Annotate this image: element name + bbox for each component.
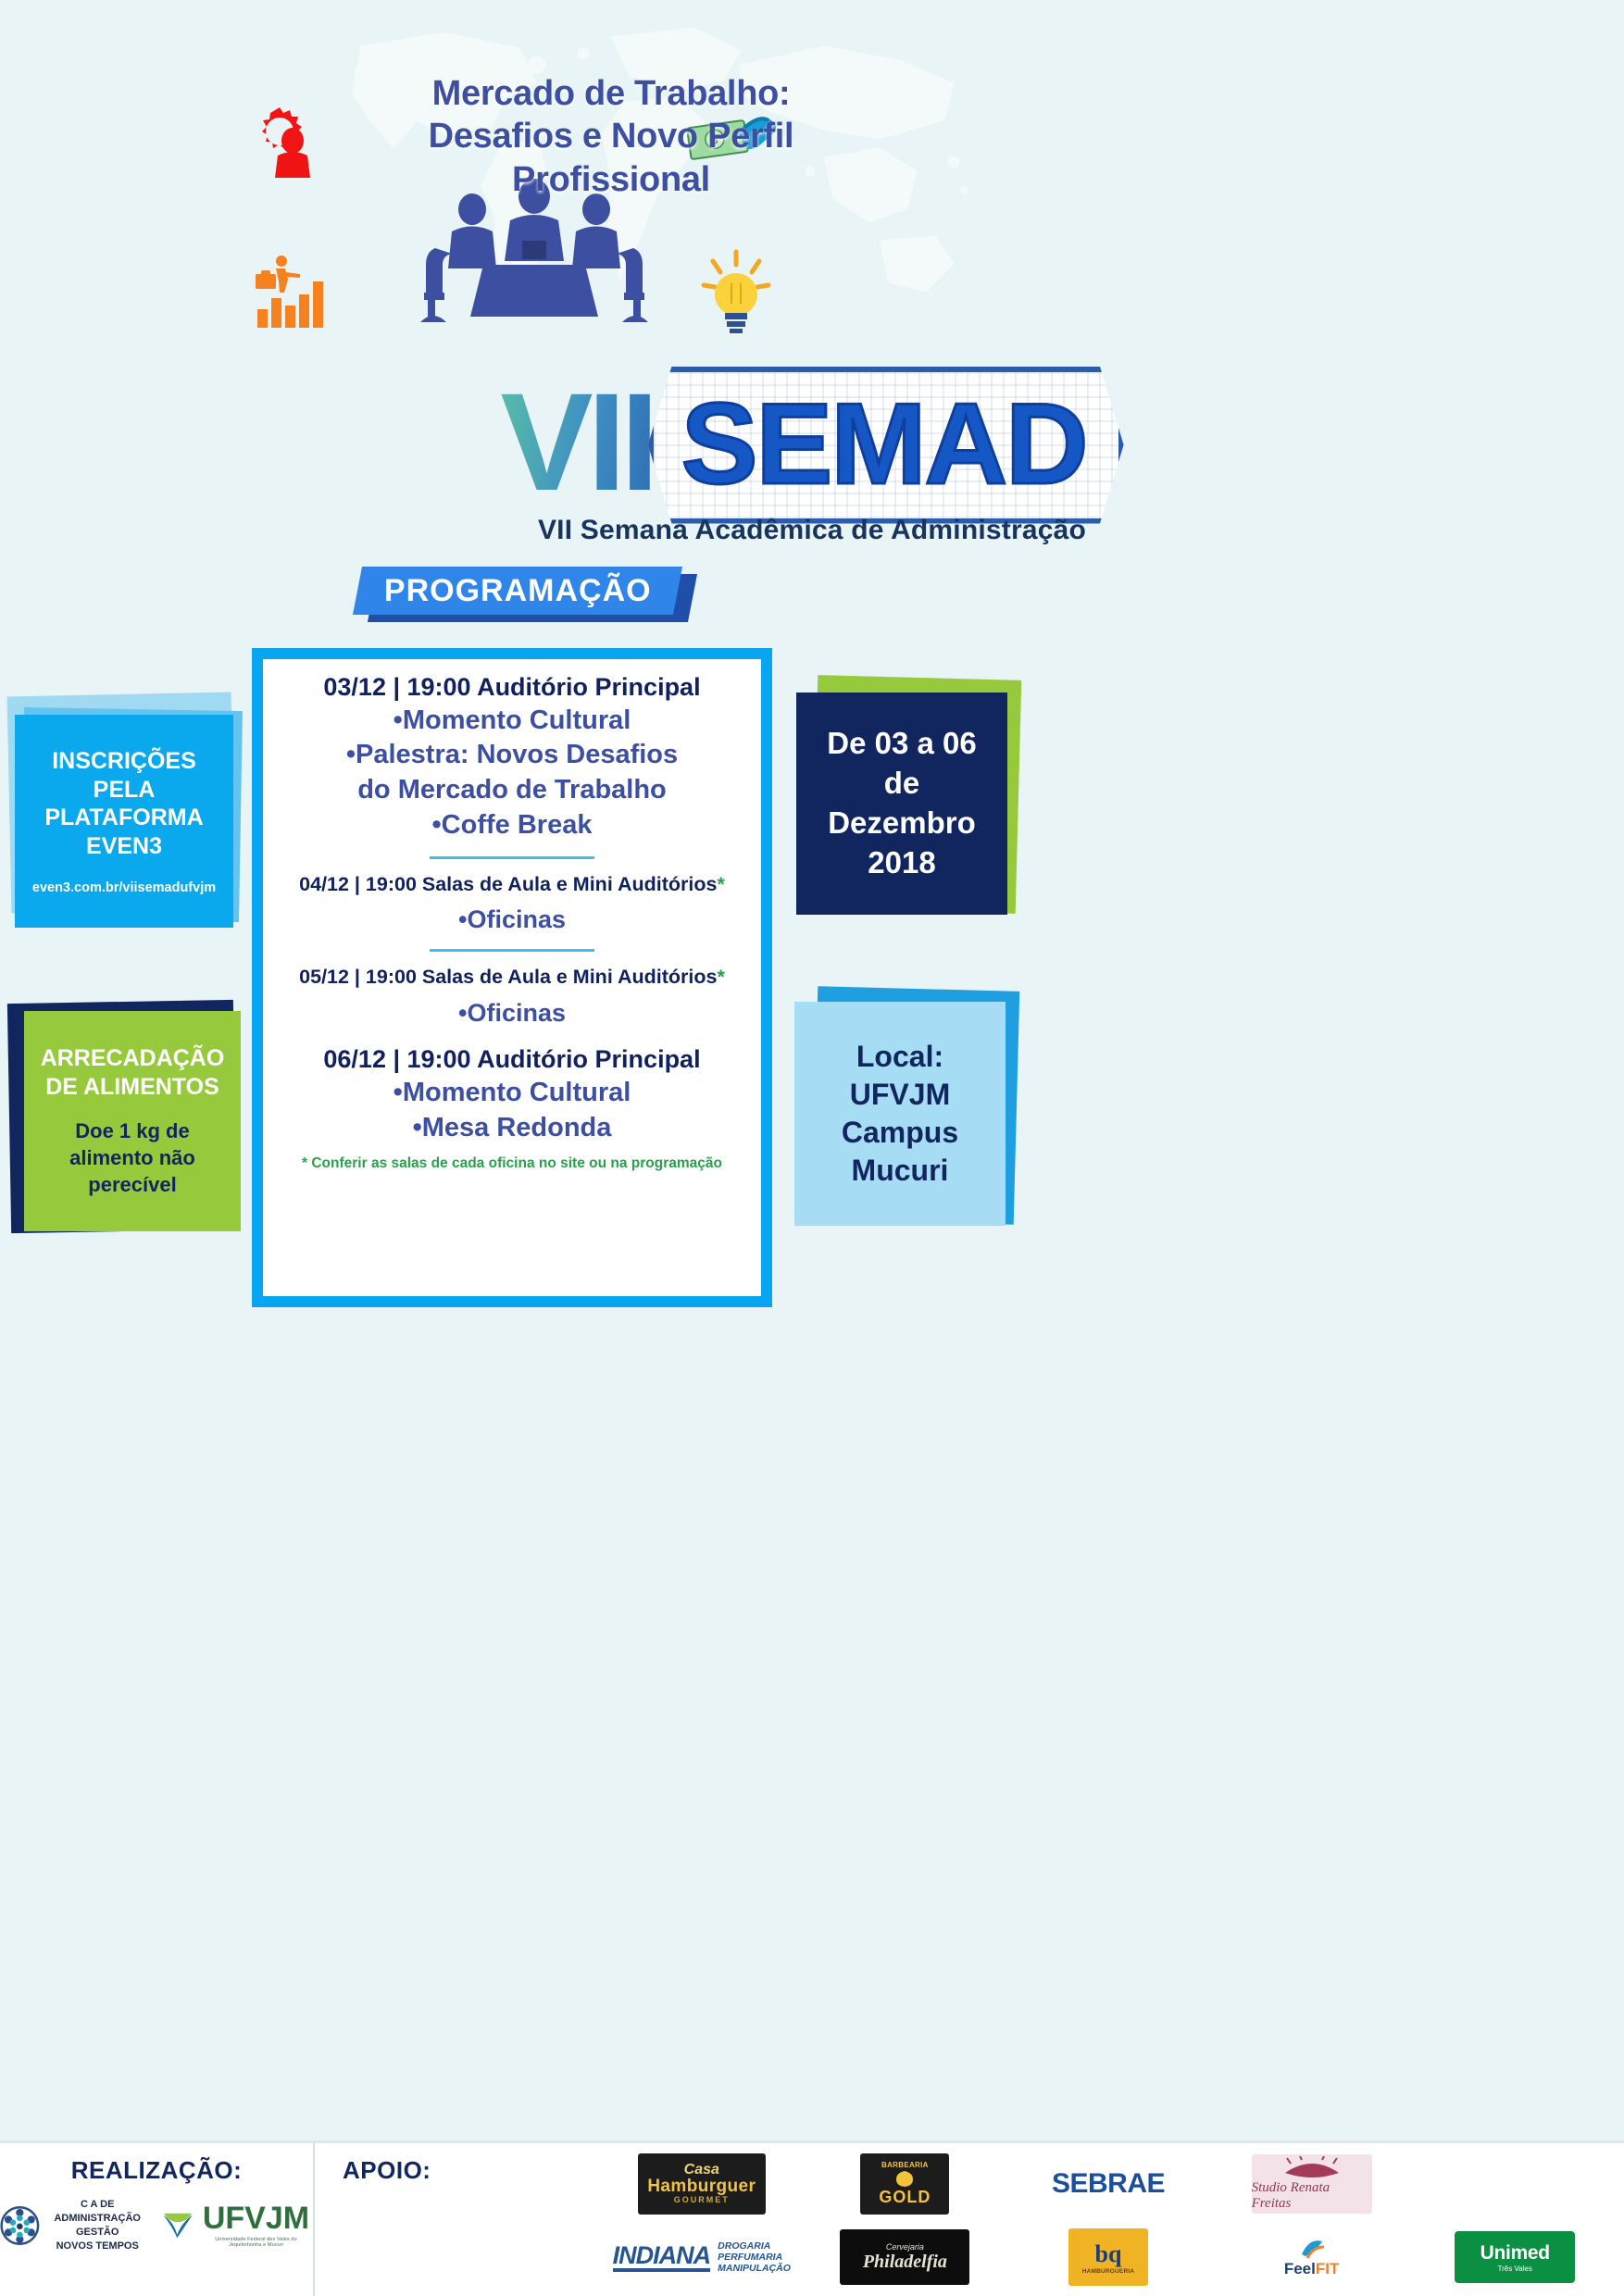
ca-administracao-logo: C A DE ADMINISTRAÇÃO GESTÃO NOVOS TEMPOS: [0, 2198, 148, 2252]
sponsor-studio-renata-freitas: Studio Renata Freitas: [1252, 2154, 1372, 2214]
logo-subtitle: VII Semana Acadêmica de Administração: [0, 515, 1624, 546]
ca-line-2: GESTÃO: [47, 2226, 148, 2240]
location-card: Local: UFVJM Campus Mucuri: [794, 1002, 1006, 1226]
programme-footnote: * Conferir as salas de cada oficina no s…: [278, 1155, 746, 1172]
day-item: •Momento Cultural: [278, 704, 746, 739]
day-heading-2: 04/12 | 19:00 Salas de Aula e Mini Audit…: [278, 872, 746, 897]
sponsor-text: Hamburguer: [647, 2177, 756, 2196]
sponsor-indiana: INDIANA DROGARIA PERFUMARIA MANIPULAÇÃO: [602, 2223, 802, 2293]
sponsor-text: FIT: [1316, 2260, 1340, 2277]
footer-apoio-section: APOIO: Casa Hamburguer GOURMET BARBEARIA…: [315, 2143, 1624, 2296]
food-drive-body: Doe 1 kg de alimento não perecível: [35, 1118, 230, 1198]
event-logo: VII SEMAD: [0, 359, 1624, 530]
title-line-3: Profissional: [315, 158, 907, 201]
day-item: •Oficinas: [278, 904, 746, 936]
title-line-1: Mercado de Trabalho:: [315, 72, 907, 115]
sponsor-text: Philadelfia: [863, 2252, 947, 2273]
sponsor-feelfit: FeelFIT: [1212, 2223, 1412, 2293]
asterisk-marker: *: [717, 873, 724, 895]
footer-realizacao-section: REALIZAÇÃO:: [0, 2143, 315, 2296]
inscriptions-title: INSCRIÇÕES PELA PLATAFORMA EVEN3: [26, 747, 222, 860]
sponsor-text: Cervejaria: [886, 2242, 924, 2252]
sponsor-text: HAMBURGUERIA: [1082, 2268, 1135, 2275]
programacao-banner: PROGRAMAÇÃO: [353, 567, 682, 615]
sponsor-sebrae: SEBRAE: [1008, 2149, 1208, 2219]
inscriptions-card: INSCRIÇÕES PELA PLATAFORMA EVEN3 even3.c…: [15, 715, 233, 928]
sponsor-text: BARBEARIA: [881, 2161, 929, 2169]
logo-vii-text: VII: [500, 372, 653, 511]
realizacao-label: REALIZAÇÃO:: [0, 2156, 313, 2185]
ufvjm-name: UFVJM: [199, 2202, 313, 2234]
food-drive-card: ARRECADAÇÃO DE ALIMENTOS Doe 1 kg de ali…: [24, 1011, 241, 1231]
day-heading-4: 06/12 | 19:00 Auditório Principal: [278, 1044, 746, 1076]
sponsor-casa-do-hamburguer: Casa Hamburguer GOURMET: [638, 2153, 766, 2215]
growth-chart-icon: [252, 252, 331, 331]
day-item: •Momento Cultural: [278, 1076, 746, 1111]
ca-line-1: C A DE ADMINISTRAÇÃO: [47, 2198, 148, 2226]
footer: REALIZAÇÃO:: [0, 2140, 1624, 2296]
location-text: Local: UFVJM Campus Mucuri: [806, 1038, 994, 1190]
ca-gear-people-icon: [0, 2202, 40, 2250]
page-title: Mercado de Trabalho: Desafios e Novo Per…: [315, 72, 907, 201]
sponsor-unimed: Unimed Três Vales: [1455, 2231, 1575, 2283]
day-item: •Oficinas: [278, 997, 746, 1029]
section-divider: [430, 856, 594, 859]
sponsor-text: GOLD: [879, 2188, 931, 2207]
barber-beard-icon: [893, 2169, 917, 2188]
sponsor-text: Feel: [1284, 2260, 1316, 2277]
day-item: do Mercado de Trabalho: [278, 773, 746, 808]
programacao-banner-label: PROGRAMAÇÃO: [384, 573, 652, 609]
day-item: •Coffe Break: [278, 808, 746, 843]
programme-box: 03/12 | 19:00 Auditório Principal •Momen…: [252, 648, 772, 1307]
day-heading-3-text: 05/12 | 19:00 Salas de Aula e Mini Audit…: [299, 966, 717, 988]
dates-text: De 03 a 06 de Dezembro 2018: [807, 724, 996, 883]
sponsor-text: Unimed: [1480, 2242, 1550, 2265]
day-heading-2-text: 04/12 | 19:00 Salas de Aula e Mini Audit…: [299, 873, 717, 895]
ufvjm-mark-icon: [161, 2205, 194, 2246]
day-item: •Palestra: Novos Desafios: [278, 738, 746, 773]
dates-card: De 03 a 06 de Dezembro 2018: [796, 693, 1007, 915]
sponsor-cervejaria-philadelfia: Cervejaria Philadelfia: [840, 2229, 969, 2285]
sponsor-grid: Casa Hamburguer GOURMET BARBEARIA GOLD S…: [602, 2149, 1615, 2292]
logo-semad-box: SEMAD: [648, 367, 1124, 524]
sponsor-text: SEBRAE: [1052, 2168, 1165, 2200]
sponsor-text: GOURMET: [674, 2196, 730, 2204]
sponsor-text: DROGARIA: [718, 2240, 791, 2252]
world-map-background: [306, 9, 1009, 398]
ufvjm-logo: UFVJM Universidade Federal dos Vales do …: [161, 2202, 313, 2248]
sponsor-text: INDIANA: [613, 2243, 711, 2272]
sponsor-text: Casa: [684, 2163, 719, 2178]
day-heading-1: 03/12 | 19:00 Auditório Principal: [278, 672, 746, 704]
sponsor-text: bq: [1095, 2240, 1122, 2268]
sponsor-text: Studio Renata Freitas: [1252, 2180, 1372, 2212]
day-heading-3: 05/12 | 19:00 Salas de Aula e Mini Audit…: [278, 965, 746, 990]
gear-person-icon: [252, 104, 322, 180]
sponsor-barbearia-gold: BARBEARIA GOLD: [860, 2153, 949, 2215]
logo-semad-text: SEMAD: [681, 381, 1087, 508]
section-divider: [430, 949, 594, 952]
food-drive-title: ARRECADAÇÃO DE ALIMENTOS: [35, 1044, 230, 1103]
sponsor-text: Três Vales: [1498, 2265, 1532, 2273]
feelfit-swoosh-icon: [1298, 2236, 1326, 2260]
sponsor-text: MANIPULAÇÃO: [718, 2263, 791, 2274]
inscriptions-url[interactable]: even3.com.br/viisemadufvjm: [32, 880, 216, 895]
sponsor-bq: bq HAMBURGUERIA: [1068, 2228, 1148, 2286]
sponsor-text: PERFUMARIA: [718, 2252, 791, 2263]
day-item: •Mesa Redonda: [278, 1111, 746, 1146]
poster-root: Mercado de Trabalho: Desafios e Novo Per…: [0, 0, 1624, 2296]
title-line-2: Desafios e Novo Perfil: [315, 115, 907, 157]
lightbulb-idea-icon: [696, 248, 776, 335]
eyelash-icon: [1280, 2156, 1344, 2180]
ca-line-3: NOVOS TEMPOS: [47, 2240, 148, 2253]
ufvjm-subtitle: Universidade Federal dos Vales do Jequit…: [199, 2237, 313, 2248]
asterisk-marker: *: [717, 966, 724, 988]
